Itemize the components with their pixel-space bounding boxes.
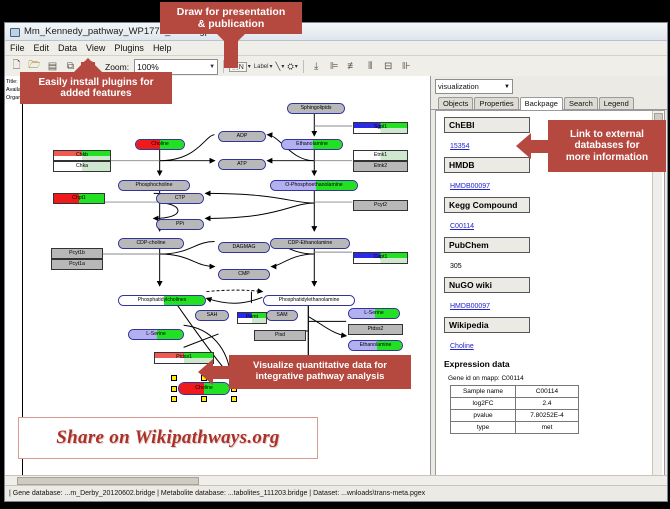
resize-handle[interactable] (171, 386, 177, 392)
db-header-pubchem: PubChem (444, 237, 530, 253)
pathway-node-label: SAH (207, 313, 218, 318)
pathway-node-label: Phosphatidylcholines (138, 298, 187, 303)
shape-tool[interactable]: ⛭▾ (287, 62, 297, 72)
share-text: Share on Wikipathways.org (56, 427, 279, 449)
callout-links: Link to external databases for more info… (548, 120, 666, 172)
pathway-node-label: Ethanolamine (360, 343, 392, 348)
pathway-node-label: Ethanolamine (296, 142, 328, 147)
zoom-value: 100% (137, 62, 159, 72)
tab-backpage[interactable]: Backpage (520, 97, 563, 110)
align-middle-icon[interactable]: ≢ (345, 59, 360, 74)
pathway-node-chkb[interactable]: Chkb (53, 150, 111, 161)
pathway-node-label: Pemt (246, 315, 258, 320)
pathway-node-choline-top[interactable]: Choline (135, 139, 185, 150)
pathway-node-cmp[interactable]: CMP (218, 269, 270, 280)
pathway-node-pcyt1a[interactable]: Pcyt1a (51, 259, 103, 270)
pathway-node-label: Pisd (275, 333, 285, 338)
cell-key: type (451, 422, 516, 434)
cell-key: Sample name (451, 386, 516, 398)
menu-item-view[interactable]: View (86, 43, 105, 53)
tab-legend[interactable]: Legend (599, 97, 634, 109)
app-icon (9, 26, 20, 37)
pathway-node-ppi[interactable]: PPi (156, 219, 204, 230)
status-bar: | Gene database: ...m_Derby_20120602.bri… (5, 485, 667, 501)
pathway-node-etnk2[interactable]: Etnk2 (353, 161, 408, 172)
chevron-down-icon: ▼ (504, 84, 510, 90)
label-tool[interactable]: Label▾ (254, 63, 273, 70)
pathway-node-phosphatidylcholines[interactable]: Phosphatidylcholines (118, 295, 206, 306)
menu-item-file[interactable]: File (10, 43, 25, 53)
pathway-node-etnk1[interactable]: Etnk1 (353, 150, 408, 161)
pathway-node-label: CTP (175, 196, 185, 201)
group-icon[interactable]: ⊪ (399, 59, 414, 74)
pathway-node-sgpl1[interactable]: Sgpl1 (353, 122, 408, 134)
toolbar-separator-2 (303, 60, 304, 73)
resize-handle[interactable] (171, 396, 177, 402)
pathway-node-label: SAM (276, 313, 287, 318)
db-header-hmdb: HMDB (444, 157, 530, 173)
table-row: pvalue 7.80252E-4 (451, 410, 579, 422)
resize-handle[interactable] (231, 396, 237, 402)
menu-item-edit[interactable]: Edit (34, 43, 50, 53)
pathway-node-label: Pcyt2 (374, 203, 387, 208)
visualization-select[interactable]: visualization ▼ (435, 79, 513, 94)
pathway-node-pcyt1b[interactable]: Pcyt1b (51, 248, 103, 259)
pathway-node-label: Etnk1 (374, 153, 387, 158)
pathway-node-label: CDP-Ethanolamine (288, 241, 332, 246)
pathway-node-label: Pcyt1a (69, 262, 85, 267)
db-link-hmdb[interactable]: HMDB00097 (450, 183, 490, 190)
callout-plugins: Easily install plugins for added feature… (20, 72, 172, 104)
visualization-row: visualization ▼ (431, 76, 667, 95)
db-link-chebi[interactable]: 15354 (450, 143, 469, 150)
status-text: | Gene database: ...m_Derby_20120602.bri… (9, 490, 425, 497)
callout-visualize: Visualize quantitative data for integrat… (229, 355, 411, 389)
pathway-node-label: PPi (176, 222, 184, 227)
db-header-kegg: Kegg Compound (444, 197, 530, 213)
pathway-node-ctp[interactable]: CTP (156, 193, 204, 204)
pathway-node-ethanolamine-low[interactable]: Ethanolamine (348, 340, 403, 351)
pathway-node-ptdss2[interactable]: Ptdss2 (348, 324, 403, 335)
pathway-node-cept1[interactable]: Cept1 (353, 252, 408, 264)
pathway-node-chpt1[interactable]: Chpt1 (53, 193, 105, 204)
pathway-node-label: L-Serine (146, 332, 166, 337)
pathway-node-cdp-choline[interactable]: CDP-choline (118, 238, 184, 249)
cell-value: 7.80252E-4 (516, 410, 579, 422)
pathway-node-ethanolamine-top[interactable]: Ethanolamine (281, 139, 343, 150)
callout-share: Share on Wikipathways.org (18, 417, 318, 459)
stack-icon[interactable]: ⊟ (381, 59, 396, 74)
pathway-node-ophosphoethanolamine[interactable]: O-Phosphoethanolamine (270, 180, 358, 191)
tab-objects[interactable]: Objects (438, 97, 473, 109)
pathway-node-label: Ptdss1 (176, 355, 192, 360)
pathway-node-label: O-Phosphoethanolamine (285, 183, 342, 188)
menu-item-help[interactable]: Help (153, 43, 172, 53)
callout-draw: Draw for presentation & publication (160, 2, 302, 34)
scrollbar-thumb[interactable] (17, 477, 199, 485)
menu-item-data[interactable]: Data (58, 43, 77, 53)
pathway-node-phosphatidylethanolamine[interactable]: Phosphatidylethanolamine (263, 295, 355, 306)
callout-plugins-arrow-icon (74, 58, 102, 72)
pathway-node-label: Chpt1 (72, 196, 86, 201)
expression-data-heading: Expression data (444, 359, 664, 369)
callout-visualize-arrow-icon (198, 359, 213, 385)
tab-search[interactable]: Search (564, 97, 598, 109)
tab-properties[interactable]: Properties (474, 97, 518, 109)
canvas-horizontal-scrollbar[interactable] (5, 475, 667, 485)
cell-value: C00114 (516, 386, 579, 398)
pathway-node-sphingolipids[interactable]: Sphingolipids (287, 103, 345, 114)
cell-value: 2.4 (516, 398, 579, 410)
pathway-node-label: ADP (237, 134, 248, 139)
side-panel-tabs: Objects Properties Backpage Search Legen… (431, 95, 667, 110)
align-left-icon[interactable]: ⊫ (327, 59, 342, 74)
db-link-nugowiki[interactable]: HMDB00097 (450, 303, 490, 310)
pathway-node-label: Etnk2 (374, 164, 387, 169)
db-header-nugowiki: NuGO wiki (444, 277, 530, 293)
callout-draw-arrow-icon (217, 34, 245, 48)
pathway-node-label: DAGMAG (232, 245, 255, 250)
pathway-node-label: Chka (76, 164, 88, 169)
distribute-icon[interactable]: ⦀ (363, 59, 378, 74)
resize-handle[interactable] (201, 396, 207, 402)
pathway-node-l-serine-low[interactable]: L-Serine (128, 329, 184, 340)
pathway-node-l-serine-mid[interactable]: L-Serine (348, 308, 400, 319)
table-row: type met (451, 422, 579, 434)
pathway-node-label: Pcyt1b (69, 251, 85, 256)
pathway-node-atp[interactable]: ATP (218, 159, 266, 170)
pathway-node-label: Phosphatidylethanolamine (279, 298, 340, 303)
zoom-label: Zoom: (105, 62, 129, 72)
resize-handle[interactable] (171, 375, 177, 381)
visualization-value: visualization (438, 82, 479, 91)
pathway-node-phosphocholine[interactable]: Phosphocholine (118, 180, 190, 191)
cell-value: met (516, 422, 579, 434)
table-row: Sample name C00114 (451, 386, 579, 398)
pathway-node-label: Sphingolipids (301, 106, 332, 111)
pathway-node-pemt[interactable]: Pemt (237, 312, 267, 324)
gene-id-line: Gene id on mapp: C00114 (448, 375, 664, 382)
pathway-node-pisd[interactable]: Pisd (254, 330, 306, 341)
callout-links-arrow-icon (516, 133, 531, 159)
pathway-node-label: Sgpl1 (374, 125, 387, 130)
align-top-icon[interactable]: ⤓ (309, 59, 324, 74)
cell-key: pvalue (451, 410, 516, 422)
pathway-node-label: Choline (151, 142, 169, 147)
title-bar: Mm_Kennedy_pathway_WP1771_45176.gpml (5, 23, 667, 41)
db-link-wikipedia[interactable]: Choline (450, 343, 474, 350)
pathway-node-label: CMP (238, 272, 250, 277)
pathway-node-cdp-ethanolamine[interactable]: CDP-Ethanolamine (270, 238, 350, 249)
pathway-node-label: Ptdss2 (368, 327, 384, 332)
expression-table: Sample name C00114 log2FC 2.4 pvalue 7.8… (450, 385, 579, 434)
line-tool[interactable]: ╲▾ (275, 62, 284, 71)
pathway-node-dagmag[interactable]: DAGMAG (218, 242, 270, 253)
pathway-node-label: Cept1 (374, 255, 388, 260)
db-value-pubchem: 305 (450, 263, 462, 270)
menu-bar: File Edit Data View Plugins Help (5, 41, 667, 56)
pathway-node-label: Chkb (76, 153, 88, 158)
pathway-node-label: Phosphocholine (136, 183, 173, 188)
pathway-node-adp[interactable]: ADP (218, 131, 266, 142)
screenshot-root: Mm_Kennedy_pathway_WP1771_45176.gpml Fil… (0, 0, 670, 509)
table-row: log2FC 2.4 (451, 398, 579, 410)
pathway-node-label: ATP (237, 162, 247, 167)
chevron-down-icon: ▼ (209, 64, 215, 70)
db-header-chebi: ChEBI (444, 117, 530, 133)
pathway-node-pcyt2[interactable]: Pcyt2 (353, 200, 408, 211)
db-link-kegg[interactable]: C00114 (450, 223, 474, 230)
db-header-wikipedia: Wikipedia (444, 317, 530, 333)
pathway-node-label: L-Serine (364, 311, 384, 316)
menu-item-plugins[interactable]: Plugins (114, 43, 144, 53)
cell-key: log2FC (451, 398, 516, 410)
pathway-node-sah[interactable]: SAH (195, 310, 229, 321)
pathway-node-sam[interactable]: SAM (266, 310, 298, 321)
callout-links-stem (530, 140, 550, 153)
pathway-node-label: CDP-choline (136, 241, 165, 246)
pathway-node-chka[interactable]: Chka (53, 161, 111, 172)
